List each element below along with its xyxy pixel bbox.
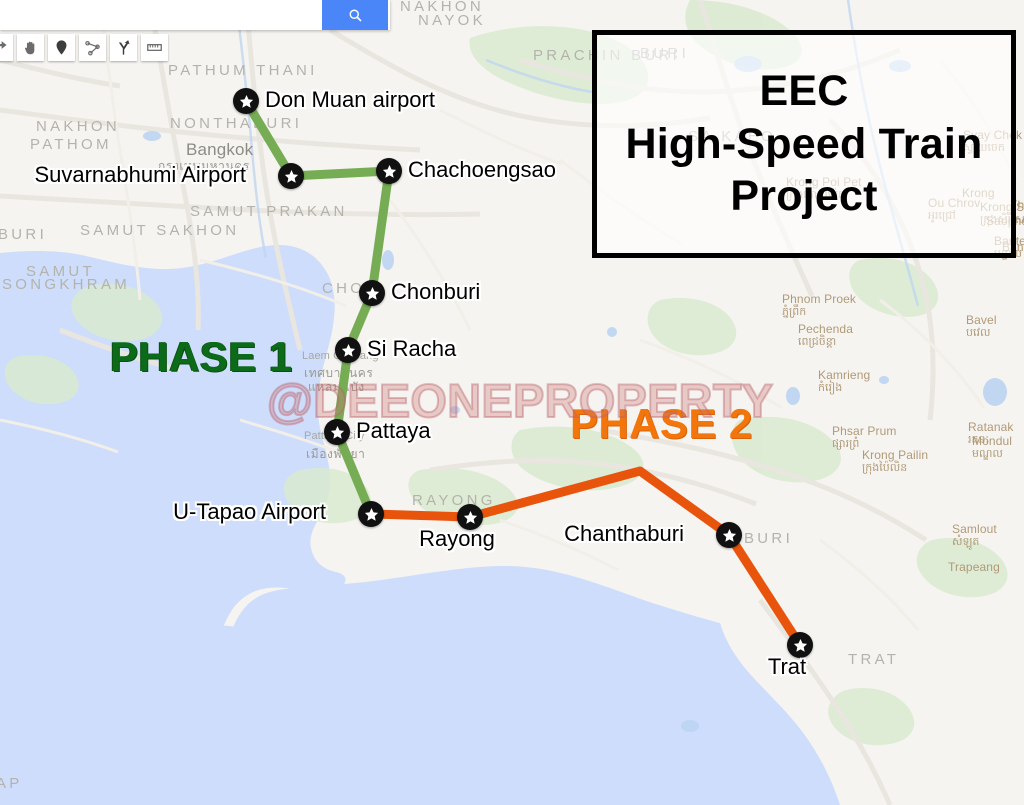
draw-shape-icon[interactable] [79, 34, 106, 61]
search-button[interactable] [322, 0, 388, 30]
station-marker-pin[interactable] [716, 522, 742, 548]
station-marker-pin[interactable] [233, 88, 259, 114]
search-icon [348, 8, 363, 23]
station-label: Don Muan airport [265, 87, 435, 113]
station-label: Trat [768, 654, 806, 680]
star-icon [793, 638, 808, 653]
title-card: EEC High-Speed Train Project [592, 30, 1016, 258]
phase-1-label: PHASE 1 [110, 333, 293, 381]
directions-icon[interactable] [110, 34, 137, 61]
search-input[interactable] [0, 0, 326, 30]
station-label: Rayong [419, 526, 495, 552]
station-label: Chachoengsao [408, 157, 556, 183]
station-label: Suvarnabhumi Airport [34, 162, 246, 188]
hand-pan-icon[interactable] [17, 34, 44, 61]
star-icon [330, 425, 345, 440]
title-line-2: High-Speed Train [625, 119, 982, 170]
star-icon [284, 169, 299, 184]
station-marker-pin[interactable] [376, 158, 402, 184]
map-toolbar[interactable] [0, 34, 168, 61]
station-label: U-Tapao Airport [173, 499, 326, 525]
redo-icon[interactable] [0, 34, 13, 61]
station-label: Chanthaburi [564, 521, 684, 547]
star-icon [364, 507, 379, 522]
title-line-1: EEC [759, 66, 848, 117]
star-icon [382, 164, 397, 179]
station-marker-pin[interactable] [335, 337, 361, 363]
station-marker-pin[interactable] [278, 163, 304, 189]
star-icon [463, 510, 478, 525]
map-marker-icon[interactable] [48, 34, 75, 61]
star-icon [341, 343, 356, 358]
map-screenshot: NAKHONPATHOMNONTHABURIPATHUM THANINAKHON… [0, 0, 1024, 805]
star-icon [365, 286, 380, 301]
star-icon [239, 94, 254, 109]
station-label: Pattaya [356, 418, 431, 444]
phase-2-label: PHASE 2 [570, 400, 753, 448]
title-line-3: Project [730, 171, 877, 222]
star-icon [722, 528, 737, 543]
station-marker-pin[interactable] [324, 419, 350, 445]
station-marker-pin[interactable] [359, 280, 385, 306]
ruler-measure-icon[interactable] [141, 34, 168, 61]
station-marker-pin[interactable] [358, 501, 384, 527]
station-label: Chonburi [391, 279, 480, 305]
station-label: Si Racha [367, 336, 456, 362]
